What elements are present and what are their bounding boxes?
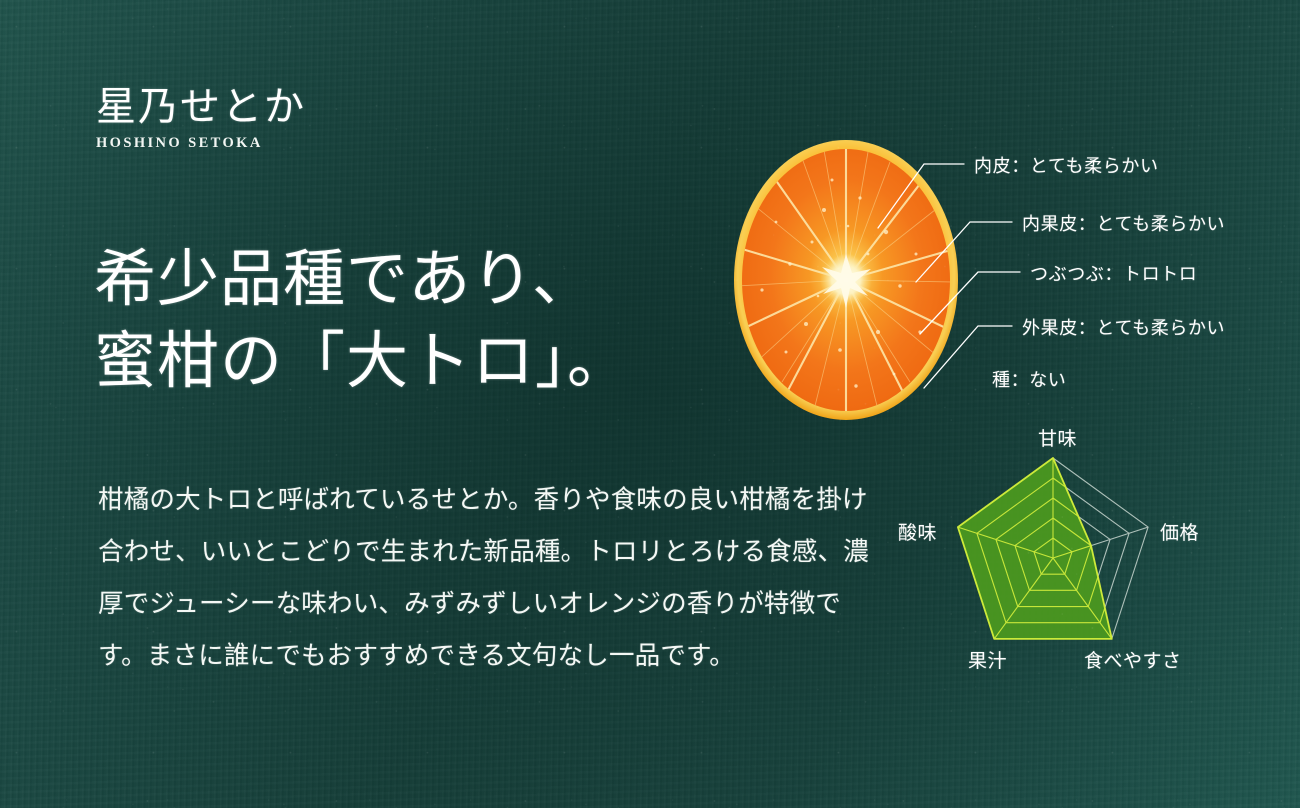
brand-subtitle: HOSHINO SETOKA — [96, 135, 306, 152]
radar-label-acidity: 酸味 — [898, 518, 937, 545]
brand-block: 星乃せとか HOSHINO SETOKA — [96, 86, 306, 152]
headline: 希少品種であり、 蜜柑の「大トロ」。 — [94, 238, 630, 402]
radar-label-ease: 食べやすさ — [1084, 646, 1182, 673]
taste-radar-chart: 甘味 価格 食べやすさ 果汁 酸味 — [896, 424, 1216, 696]
chalkboard-background: 星乃せとか HOSHINO SETOKA 希少品種であり、 蜜柑の「大トロ」。 … — [0, 0, 1300, 808]
callout-label-juice-vesicles: つぶつぶ：トロトロ — [1030, 260, 1197, 286]
radar-label-price: 価格 — [1160, 518, 1199, 545]
radar-data-area — [958, 458, 1112, 639]
page-title: 星乃せとか — [96, 86, 306, 128]
orange-cross-section-image — [728, 136, 964, 426]
callout-label-endocarp: 内果皮：とても柔らかい — [1022, 210, 1225, 236]
callout-label-inner-skin: 内皮：とても柔らかい — [974, 152, 1159, 178]
callout-label-exocarp: 外果皮：とても柔らかい — [1022, 314, 1225, 340]
radar-label-sweetness: 甘味 — [1038, 424, 1077, 451]
body-copy: 柑橘の大トロと呼ばれているせとか。香りや食味の良い柑橘を掛け合わせ、いいとこどり… — [98, 474, 888, 682]
callout-label-seeds: 種：ない — [992, 366, 1066, 392]
radar-label-juice: 果汁 — [968, 646, 1007, 673]
